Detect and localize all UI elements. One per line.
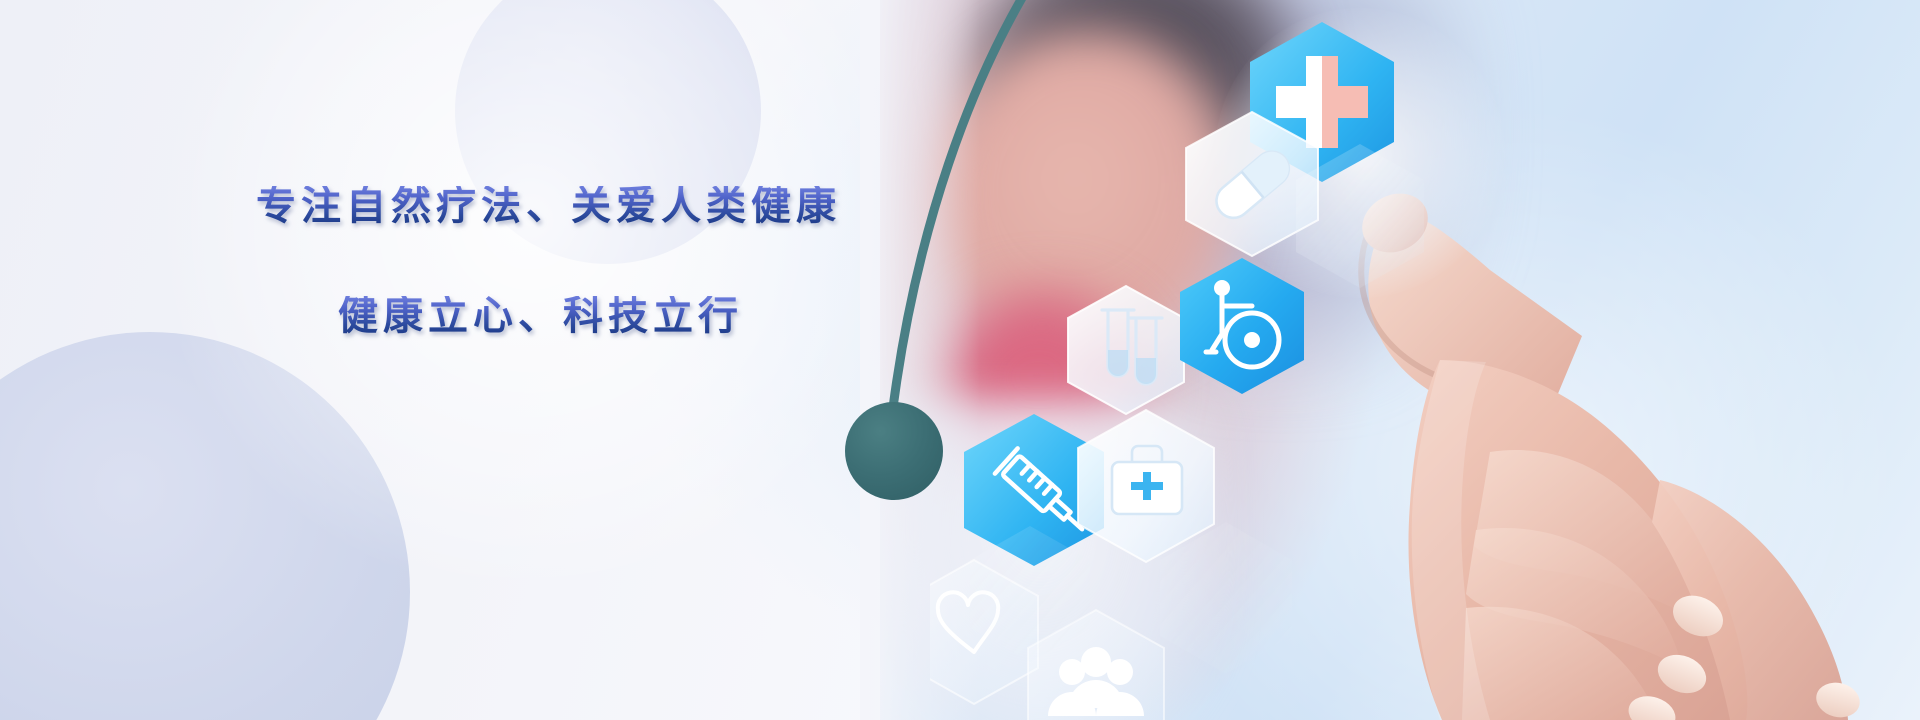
arc-end-dot-icon [845, 402, 943, 500]
headline-line-2: 健康立心、科技立行 [338, 296, 976, 336]
headline-block: 专注自然疗法、关爱人类健康 健康立心、科技立行 [256, 186, 976, 336]
wheelchair-icon [1180, 258, 1304, 394]
hexagon-icon-cluster [930, 0, 1490, 720]
hero-banner: 专注自然疗法、关爱人类健康 健康立心、科技立行 [0, 0, 1920, 720]
decorative-circle-bottom [0, 332, 410, 720]
medical-bag-icon [1078, 410, 1214, 562]
test-tubes-icon [1068, 286, 1184, 414]
headline-line-1: 专注自然疗法、关爱人类健康 [256, 186, 976, 226]
